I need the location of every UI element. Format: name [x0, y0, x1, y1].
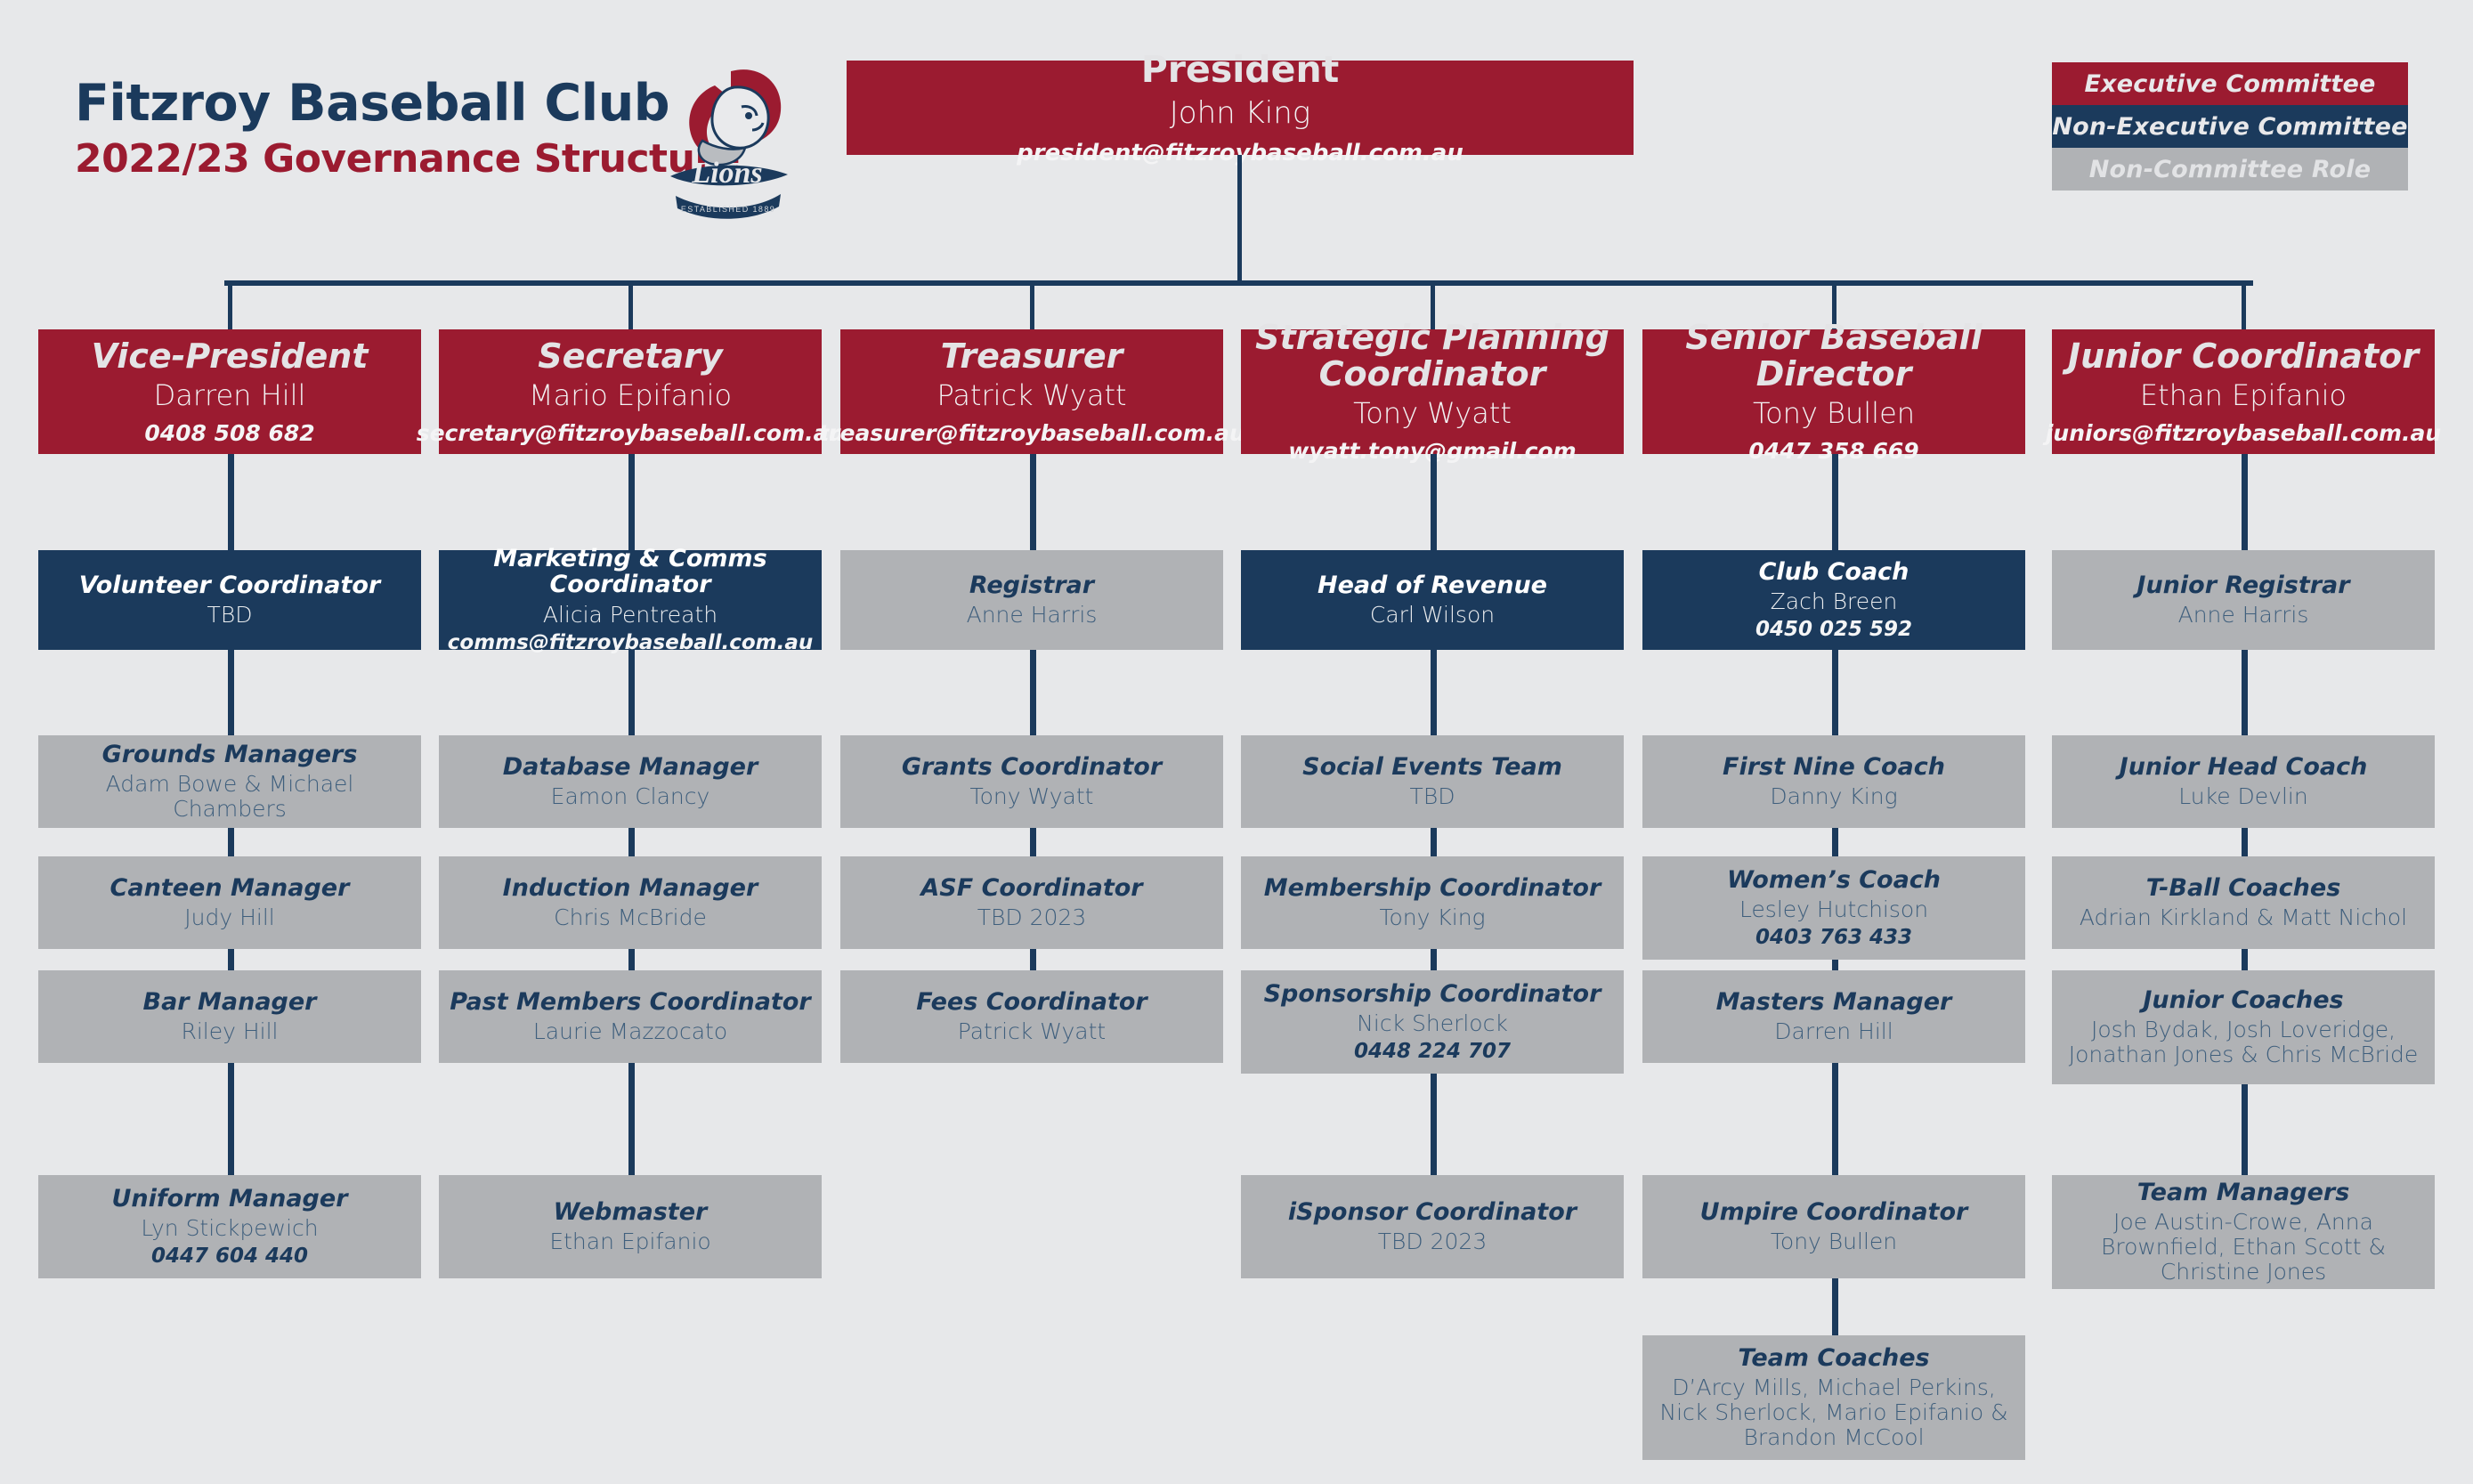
node-contact: 0450 025 592 — [1755, 619, 1912, 641]
node-title: President — [1141, 50, 1339, 89]
node-role[interactable]: Junior CoachesJosh Bydak, Josh Loveridge… — [2052, 970, 2435, 1084]
node-person: Ethan Epifanio — [549, 1229, 710, 1254]
node-title: Junior Head Coach — [2120, 754, 2368, 780]
connector-stub — [628, 828, 635, 856]
node-role[interactable]: Junior Head CoachLuke Devlin — [2052, 735, 2435, 828]
node-title: ASF Coordinator — [920, 875, 1142, 901]
node-person: Darren Hill — [154, 380, 306, 412]
node-person: Riley Hill — [181, 1019, 278, 1044]
node-person: Tony Bullen — [1753, 398, 1915, 430]
legend-item-non-committee: Non-Committee Role — [2052, 148, 2408, 191]
legend-item-executive: Executive Committee — [2052, 62, 2408, 105]
node-title: Strategic Planning Coordinator — [1250, 320, 1615, 393]
connector-stub — [228, 949, 234, 970]
node-title: Marketing & Comms Coordinator — [448, 546, 813, 597]
node-role[interactable]: Umpire CoordinatorTony Bullen — [1642, 1175, 2025, 1278]
node-title: Vice-President — [92, 338, 369, 375]
node-person: Adam Bowe & Michael Chambers — [47, 772, 412, 822]
node-person: D’Arcy Mills, Michael Perkins, Nick Sher… — [1651, 1375, 2016, 1450]
node-contact: juniors@fitzroybaseball.com.au — [2046, 421, 2441, 446]
node-title: Senior Baseball Director — [1651, 320, 2016, 393]
node-title: Fees Coordinator — [916, 989, 1147, 1015]
node-role[interactable]: Team ManagersJoe Austin-Crowe, Anna Brow… — [2052, 1175, 2435, 1289]
node-title: Team Managers — [2137, 1180, 2350, 1205]
club-name: Fitzroy Baseball Club — [75, 78, 716, 129]
node-person: Josh Bydak, Josh Loveridge, Jonathan Jon… — [2061, 1018, 2426, 1067]
connector-stub — [1030, 949, 1036, 970]
connector-stub — [1030, 454, 1036, 550]
connector-stub — [1832, 1063, 1838, 1175]
node-role[interactable]: Sponsorship CoordinatorNick Sherlock0448… — [1241, 970, 1624, 1074]
node-title: Umpire Coordinator — [1700, 1199, 1968, 1225]
connector-bus-to-column-3 — [1030, 280, 1034, 329]
connector-stub — [1832, 454, 1838, 550]
connector-stub — [228, 828, 234, 856]
node-role[interactable]: Grounds ManagersAdam Bowe & Michael Cham… — [38, 735, 421, 828]
node-title: T-Ball Coaches — [2146, 875, 2341, 901]
node-person: TBD — [1410, 784, 1455, 809]
node-person: Danny King — [1770, 784, 1897, 809]
connector-stub — [628, 949, 635, 970]
node-column-head[interactable]: Vice-PresidentDarren Hill0408 508 682 — [38, 329, 421, 454]
node-title: Canteen Manager — [110, 875, 350, 901]
node-title: Grounds Managers — [102, 742, 358, 767]
node-person: TBD — [207, 603, 253, 628]
node-title: Secretary — [538, 338, 723, 375]
node-role[interactable]: Marketing & Comms CoordinatorAlicia Pent… — [439, 550, 822, 650]
connector-stub — [1431, 949, 1437, 970]
connector-stub — [2242, 454, 2248, 550]
node-person: Tony Wyatt — [970, 784, 1094, 809]
node-role[interactable]: Fees CoordinatorPatrick Wyatt — [840, 970, 1223, 1063]
node-person: Joe Austin-Crowe, Anna Brownfield, Ethan… — [2061, 1210, 2426, 1285]
connector-stub — [1431, 454, 1437, 550]
node-role[interactable]: Junior RegistrarAnne Harris — [2052, 550, 2435, 650]
page-subtitle: 2022/23 Governance Structure — [75, 140, 716, 179]
org-chart-page: Fitzroy Baseball Club 2022/23 Governance… — [0, 0, 2473, 1484]
node-title: Registrar — [969, 572, 1094, 598]
node-role[interactable]: Team CoachesD’Arcy Mills, Michael Perkin… — [1642, 1335, 2025, 1460]
node-title: Club Coach — [1759, 559, 1909, 585]
node-title: Junior Coaches — [2143, 987, 2343, 1013]
node-role[interactable]: Volunteer CoordinatorTBD — [38, 550, 421, 650]
node-column-head[interactable]: Junior CoordinatorEthan Epifaniojuniors@… — [2052, 329, 2435, 454]
node-role[interactable]: Induction ManagerChris McBride — [439, 856, 822, 949]
connector-stub — [1832, 960, 1838, 970]
connector-stub — [1832, 650, 1838, 735]
node-role[interactable]: Masters ManagerDarren Hill — [1642, 970, 2025, 1063]
node-person: Lesley Hutchison — [1739, 897, 1928, 922]
node-title: Social Events Team — [1302, 754, 1562, 780]
node-title: Membership Coordinator — [1264, 875, 1601, 901]
node-title: Uniform Manager — [111, 1186, 347, 1212]
node-role[interactable]: Grants CoordinatorTony Wyatt — [840, 735, 1223, 828]
node-role[interactable]: Social Events TeamTBD — [1241, 735, 1624, 828]
node-column-head[interactable]: SecretaryMario Epifaniosecretary@fitzroy… — [439, 329, 822, 454]
connector-stub — [2242, 650, 2248, 735]
node-role[interactable]: Bar ManagerRiley Hill — [38, 970, 421, 1063]
node-person: Alicia Pentreath — [543, 603, 718, 628]
legend: Executive Committee Non-Executive Commit… — [2052, 62, 2408, 191]
connector-stub — [2242, 1084, 2248, 1175]
node-role[interactable]: First Nine CoachDanny King — [1642, 735, 2025, 828]
node-role[interactable]: Database ManagerEamon Clancy — [439, 735, 822, 828]
node-title: Induction Manager — [503, 875, 758, 901]
connector-stub — [628, 650, 635, 735]
node-person: Luke Devlin — [2178, 784, 2307, 809]
node-person: Nick Sherlock — [1357, 1011, 1508, 1036]
connector-stub — [1431, 828, 1437, 856]
node-role[interactable]: Women’s CoachLesley Hutchison0403 763 43… — [1642, 856, 2025, 960]
node-person: Zach Breen — [1771, 589, 1898, 614]
node-title: Team Coaches — [1738, 1345, 1929, 1371]
node-title: Past Members Coordinator — [450, 989, 810, 1015]
connector-stub — [628, 1063, 635, 1175]
node-title: Webmaster — [554, 1199, 708, 1225]
connector-bus-to-column-6 — [2242, 280, 2246, 329]
node-person: Patrick Wyatt — [936, 380, 1126, 412]
node-contact: treasurer@fitzroybaseball.com.au — [818, 421, 1245, 446]
connector-bus — [224, 280, 2253, 286]
node-role[interactable]: Past Members CoordinatorLaurie Mazzocato — [439, 970, 822, 1063]
node-contact: 0403 763 433 — [1755, 927, 1912, 949]
node-person: Anne Harris — [2178, 603, 2309, 628]
node-title: Junior Registrar — [2137, 572, 2349, 598]
node-president[interactable]: President John King president@fitzroybas… — [847, 61, 1634, 155]
node-person: Laurie Mazzocato — [533, 1019, 727, 1044]
node-contact: secretary@fitzroybaseball.com.au — [417, 421, 845, 446]
node-person: Adrian Kirkland & Matt Nichol — [2080, 905, 2407, 930]
connector-stub — [1431, 650, 1437, 735]
node-role[interactable]: Head of RevenueCarl Wilson — [1241, 550, 1624, 650]
node-title: Treasurer — [941, 338, 1123, 375]
node-contact: 0447 604 440 — [151, 1245, 308, 1268]
node-title: Women’s Coach — [1727, 867, 1941, 893]
connector-stub — [1832, 1278, 1838, 1335]
connector-stub — [1030, 828, 1036, 856]
node-person: Tony Wyatt — [1353, 398, 1512, 430]
connector-stub — [228, 650, 234, 735]
node-column-head[interactable]: Senior Baseball DirectorTony Bullen0447 … — [1642, 329, 2025, 454]
node-contact: 0408 508 682 — [144, 421, 314, 446]
node-person: John King — [1170, 96, 1310, 130]
node-title: Head of Revenue — [1318, 572, 1547, 598]
svg-text:ESTABLISHED 1889: ESTABLISHED 1889 — [681, 205, 775, 214]
connector-stub — [228, 1063, 234, 1175]
node-person: Tony Bullen — [1771, 1229, 1897, 1254]
node-title: Grants Coordinator — [902, 754, 1162, 780]
page-header: Fitzroy Baseball Club 2022/23 Governance… — [75, 78, 716, 179]
node-person: Ethan Epifanio — [2140, 380, 2347, 412]
node-person: Mario Epifanio — [529, 380, 732, 412]
node-role[interactable]: Uniform ManagerLyn Stickpewich0447 604 4… — [38, 1175, 421, 1278]
node-person: Eamon Clancy — [551, 784, 710, 809]
node-title: Masters Manager — [1716, 989, 1952, 1015]
node-title: Volunteer Coordinator — [79, 572, 380, 598]
connector-stub — [228, 454, 234, 550]
node-person: Patrick Wyatt — [958, 1019, 1106, 1044]
node-role[interactable]: T-Ball CoachesAdrian Kirkland & Matt Nic… — [2052, 856, 2435, 949]
node-column-head[interactable]: Strategic Planning CoordinatorTony Wyatt… — [1241, 329, 1624, 454]
node-column-head[interactable]: TreasurerPatrick Wyatttreasurer@fitzroyb… — [840, 329, 1223, 454]
node-role[interactable]: Club CoachZach Breen0450 025 592 — [1642, 550, 2025, 650]
connector-bus-to-column-1 — [228, 280, 232, 329]
connector-stub — [628, 454, 635, 550]
node-title: Bar Manager — [143, 989, 317, 1015]
legend-item-non-executive: Non-Executive Committee — [2052, 105, 2408, 148]
node-person: Carl Wilson — [1370, 603, 1495, 628]
connector-stub — [2242, 828, 2248, 856]
node-role[interactable]: Canteen ManagerJudy Hill — [38, 856, 421, 949]
node-title: iSponsor Coordinator — [1288, 1199, 1577, 1225]
node-role[interactable]: WebmasterEthan Epifanio — [439, 1175, 822, 1278]
node-title: Sponsorship Coordinator — [1264, 981, 1601, 1007]
node-person: Chris McBride — [554, 905, 707, 930]
node-person: Darren Hill — [1774, 1019, 1893, 1044]
node-person: Tony King — [1379, 905, 1485, 930]
node-title: Junior Coordinator — [2068, 338, 2419, 375]
node-title: Database Manager — [503, 754, 758, 780]
node-role[interactable]: Membership CoordinatorTony King — [1241, 856, 1624, 949]
node-person: Anne Harris — [967, 603, 1098, 628]
connector-president-drop — [1237, 155, 1242, 280]
node-role[interactable]: ASF CoordinatorTBD 2023 — [840, 856, 1223, 949]
node-person: TBD 2023 — [1378, 1229, 1487, 1254]
connector-bus-to-column-2 — [628, 280, 633, 329]
connector-stub — [1431, 1074, 1437, 1175]
lions-logo-icon: Lions ESTABLISHED 1889 — [645, 55, 806, 224]
connector-stub — [2242, 949, 2248, 970]
svg-text:Lions: Lions — [691, 157, 762, 190]
node-person: TBD 2023 — [977, 905, 1086, 930]
connector-stub — [1832, 828, 1838, 856]
node-role[interactable]: iSponsor CoordinatorTBD 2023 — [1241, 1175, 1624, 1278]
node-role[interactable]: RegistrarAnne Harris — [840, 550, 1223, 650]
node-title: First Nine Coach — [1723, 754, 1945, 780]
connector-stub — [1030, 650, 1036, 735]
node-contact: 0448 224 707 — [1354, 1041, 1511, 1063]
node-person: Judy Hill — [184, 905, 274, 930]
node-person: Lyn Stickpewich — [141, 1216, 318, 1241]
